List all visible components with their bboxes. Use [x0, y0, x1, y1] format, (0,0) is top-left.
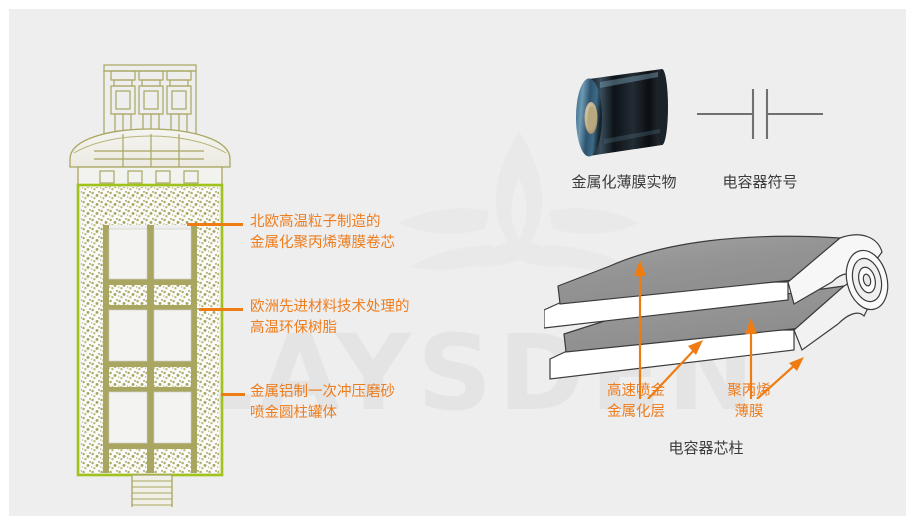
capacitor-top-cap — [70, 129, 230, 185]
capacitor-core-caption: 电容器芯柱 — [626, 437, 786, 458]
callout-resin-line2: 高温环保树脂 — [250, 318, 410, 339]
terminal-group — [104, 65, 196, 137]
diagram-canvas: LAYSDEN — [0, 0, 915, 525]
callout-pp-film-line2: 薄膜 — [718, 402, 780, 423]
callout-case-line2: 喷金圆柱罐体 — [250, 403, 395, 424]
callout-case: 金属铝制一次冲压磨砂 喷金圆柱罐体 — [250, 382, 395, 424]
film-roll-caption: 金属化薄膜实物 — [564, 171, 684, 192]
capacitor-symbol-caption: 电容器符号 — [700, 171, 820, 192]
callout-metal-layer-line2: 金属化层 — [607, 402, 665, 423]
callout-resin-line1: 欧洲先进材料技术处理的 — [250, 297, 410, 318]
capacitor-core-film-illustration — [544, 224, 894, 399]
callout-pp-film-line1: 聚丙烯 — [718, 381, 780, 402]
callout-metal-layer: 高速喷金 金属化层 — [607, 381, 665, 423]
callout-case-line1: 金属铝制一次冲压磨砂 — [250, 382, 395, 403]
callout-resin: 欧洲先进材料技术处理的 高温环保树脂 — [250, 297, 410, 339]
callout-metal-layer-line1: 高速喷金 — [607, 381, 665, 402]
callout-core-line1: 北欧高温粒子制造的 — [250, 212, 395, 233]
leader-line-resin — [199, 308, 243, 311]
callout-core: 北欧高温粒子制造的 金属化聚丙烯薄膜卷芯 — [250, 212, 395, 254]
capacitor-symbol — [697, 71, 823, 157]
callout-core-line2: 金属化聚丙烯薄膜卷芯 — [250, 233, 395, 254]
mounting-stud — [132, 475, 172, 507]
leader-line-core — [187, 223, 243, 226]
cutaway-capacitor-illustration — [64, 47, 269, 507]
callout-pp-film: 聚丙烯 薄膜 — [718, 381, 780, 423]
leader-line-case — [221, 393, 245, 396]
metallized-film-roll-photo — [570, 57, 678, 165]
capacitor-body-interior — [81, 187, 219, 473]
